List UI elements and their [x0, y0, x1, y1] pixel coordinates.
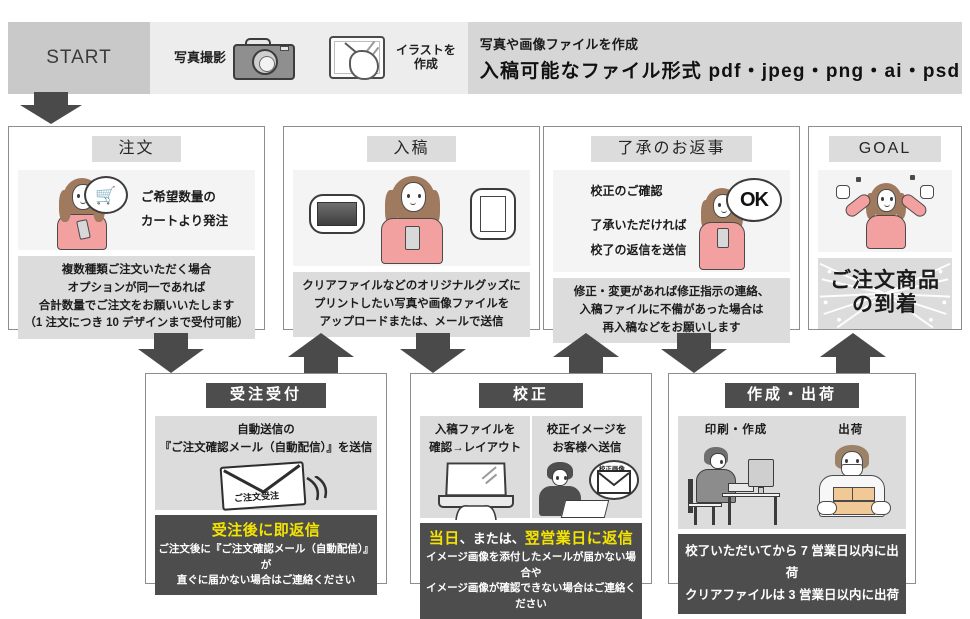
arrow-approval-to-shipping	[661, 333, 727, 373]
illustration-item: イラストを 作成	[323, 22, 462, 94]
photo-shoot-item: 写真撮影	[168, 22, 301, 94]
card-proof-right-badge: 校正画像	[599, 463, 625, 473]
person-at-computer-icon	[678, 443, 794, 529]
card-received-banner: 受注後に即返信 ご注文後に『ご注文確認メール（自動配信）』が 直ぐに届かない場合…	[155, 515, 377, 596]
card-order-side-line1: ご希望数量の	[141, 186, 228, 210]
card-proof-banner: 当日、または、翌営業日に返信 イメージ画像を添付したメールが届かない場合や イメ…	[420, 523, 642, 619]
ok-badge-icon: OK	[726, 178, 782, 222]
card-submit-caption-1: プリントしたい写真や画像ファイルを	[296, 296, 527, 314]
card-proof-mid: 、または、	[460, 531, 525, 546]
card-shipping[interactable]: 作成・出荷 印刷・作成	[668, 373, 916, 584]
card-proof-sub1: イメージ画像を添付したメールが届かない場合や	[423, 550, 639, 582]
card-received-text: 自動送信の 『ご注文確認メール（自動配信）』を送信	[160, 421, 373, 458]
card-submit[interactable]: 入稿 クリアファイルなどのオリジナルグッズに プリントしたい写真	[283, 126, 540, 330]
tablet-stylus-icon	[329, 34, 389, 82]
card-shipping-caption-1: クリアファイルは 3 営業日以内に出荷	[681, 585, 903, 607]
card-shipping-illustration: 印刷・作成	[678, 416, 906, 529]
arrow-shipping-to-goal	[820, 333, 886, 373]
card-goal[interactable]: GOAL	[808, 126, 962, 330]
card-approval-line1: 校正のご確認	[590, 179, 686, 204]
card-proof-left-text: 入稿ファイルを 確認→レイアウト	[429, 421, 521, 458]
card-approval-line3: 校了の返信を送信	[590, 238, 686, 263]
person-holding-box-icon	[803, 443, 899, 529]
illustration-label-line1: イラストを	[396, 43, 456, 57]
card-proof-hi2: 翌営業日に返信	[525, 530, 634, 547]
file-formats-panel: 写真や画像ファイルを作成 入稿可能なファイル形式 pdf・jpeg・png・ai…	[468, 22, 962, 94]
card-proof-title: 校正	[479, 383, 583, 408]
card-goal-text: ご注文商品 の到着	[830, 269, 940, 317]
card-approval[interactable]: 了承のお返事 校正のご確認 了承いただければ 校了の返信を送信 OK	[543, 126, 800, 330]
envelope-label: ご注文受注	[234, 488, 280, 504]
card-proof-right: 校正イメージを お客様へ送信	[532, 416, 642, 518]
card-shipping-title: 作成・出荷	[725, 383, 859, 408]
card-goal-line2: の到着	[852, 293, 918, 316]
photo-strip-icon	[309, 194, 365, 234]
card-submit-caption-2: アップロードまたは、メールで送信	[296, 314, 527, 332]
card-shipping-caption-0: 校了いただいてから 7 営業日以内に出荷	[681, 541, 903, 585]
arrow-submit-to-proof	[400, 333, 466, 373]
arrow-start-to-order	[20, 92, 82, 124]
card-goal-banner: ご注文商品 の到着	[818, 258, 952, 329]
header-band: START 写真撮影 イラストを 作成	[8, 22, 962, 94]
card-shipping-caption: 校了いただいてから 7 営業日以内に出荷 クリアファイルは 3 営業日以内に出荷	[678, 534, 906, 614]
card-received-line1: 自動送信の	[160, 421, 373, 439]
card-received-sub1: ご注文後に『ご注文確認メール（自動配信）』が	[158, 542, 374, 574]
card-order-illustration: 🛒 ご希望数量の カートより発注	[18, 170, 255, 250]
card-proof-left: 入稿ファイルを 確認→レイアウト	[420, 416, 530, 518]
camera-icon	[233, 36, 295, 80]
card-order-caption: 複数種類ご注文いただく場合 オプションが同一であれば 合計数量でご注文をお願いい…	[18, 256, 255, 339]
illustration-label: イラストを 作成	[396, 44, 456, 72]
card-order-caption-2: 合計数量でご注文をお願いいたします	[21, 298, 252, 316]
card-proof[interactable]: 校正 入稿ファイルを 確認→レイアウト	[410, 373, 652, 584]
card-shipping-left-label: 印刷・作成	[705, 421, 768, 439]
order-confirmation-envelope-icon: ご注文受注	[201, 462, 331, 510]
card-approval-text: 校正のご確認 了承いただければ 校了の返信を送信	[590, 179, 686, 264]
start-chip: START	[8, 22, 150, 94]
card-order-side-line2: カートより発注	[141, 210, 228, 234]
card-approval-caption-0: 修正・変更があれば修正指示の連絡、	[556, 284, 787, 302]
card-received-highlight: 受注後に即返信	[158, 519, 374, 542]
card-submit-title: 入稿	[367, 136, 455, 162]
card-goal-title: GOAL	[829, 136, 941, 162]
card-order-caption-1: オプションが同一であれば	[21, 280, 252, 298]
card-proof-right-text: 校正イメージを お客様へ送信	[547, 421, 627, 458]
card-approval-caption-1: 入稿ファイルに不備があった場合は	[556, 302, 787, 320]
card-proof-banner-line: 当日、または、翌営業日に返信	[423, 527, 639, 550]
card-submit-illustration	[293, 170, 530, 266]
card-goal-line1: ご注文商品	[830, 269, 940, 292]
arrow-order-to-received	[138, 333, 204, 373]
card-shipping-right-label: 出荷	[838, 421, 863, 439]
card-order[interactable]: 注文 🛒 ご希望数量の カートより発注 複数種類ご注文いただく	[8, 126, 265, 330]
card-proof-sub2: イメージ画像が確認できない場合はご連絡ください	[423, 581, 639, 613]
card-approval-title: 了承のお返事	[591, 136, 751, 162]
card-proof-hi1: 当日	[429, 530, 460, 547]
card-goal-illustration	[818, 170, 952, 252]
card-order-side-text: ご希望数量の カートより発注	[141, 186, 228, 234]
card-submit-caption: クリアファイルなどのオリジナルグッズに プリントしたい写真や画像ファイルを アッ…	[293, 272, 530, 337]
card-proof-left-line2: 確認→レイアウト	[429, 439, 521, 457]
card-order-caption-3: （1 注文につき 10 デザインまで受付可能）	[21, 315, 252, 333]
card-proof-right-line1: 校正イメージを	[547, 421, 627, 439]
card-shipping-left: 印刷・作成	[678, 416, 794, 529]
ok-badge-text: OK	[740, 189, 768, 212]
formats-line2: 入稿可能なファイル形式 pdf・jpeg・png・ai・psd	[480, 56, 962, 83]
card-received-title: 受注受付	[206, 383, 326, 408]
formats-line1: 写真や画像ファイルを作成	[480, 34, 962, 53]
card-proof-left-line1: 入稿ファイルを	[429, 421, 521, 439]
diagram-canvas: START 写真撮影 イラストを 作成	[0, 0, 970, 600]
card-order-title: 注文	[92, 136, 180, 162]
staff-sending-mail-icon: 校正画像	[533, 460, 641, 518]
card-submit-caption-0: クリアファイルなどのオリジナルグッズに	[296, 278, 527, 296]
card-proof-illustration: 入稿ファイルを 確認→レイアウト	[420, 416, 642, 518]
card-approval-line2: 了承いただければ	[590, 213, 686, 238]
cheering-person-icon	[830, 171, 940, 251]
photo-shoot-label: 写真撮影	[174, 51, 226, 66]
card-shipping-right: 出荷	[796, 416, 907, 529]
arrow-received-to-submit	[288, 333, 354, 373]
shopping-cart-icon: 🛒	[84, 176, 128, 214]
card-received-illustration: 自動送信の 『ご注文確認メール（自動配信）』を送信 ご注文受注	[155, 416, 377, 510]
laptop-typing-icon	[432, 462, 518, 518]
card-received-line2: 『ご注文確認メール（自動配信）』を送信	[160, 439, 373, 457]
card-received[interactable]: 受注受付 自動送信の 『ご注文確認メール（自動配信）』を送信 ご注文受注 受注後…	[145, 373, 387, 584]
card-approval-illustration: 校正のご確認 了承いただければ 校了の返信を送信 OK	[553, 170, 790, 272]
person-with-phone-icon	[369, 170, 455, 266]
illustration-card-icon	[470, 188, 516, 240]
card-proof-right-line2: お客様へ送信	[547, 439, 627, 457]
illustration-label-line2: 作成	[414, 57, 438, 71]
arrow-proof-to-approval	[553, 333, 619, 373]
card-order-caption-0: 複数種類ご注文いただく場合	[21, 262, 252, 280]
card-received-sub2: 直ぐに届かない場合はご連絡ください	[158, 573, 374, 589]
